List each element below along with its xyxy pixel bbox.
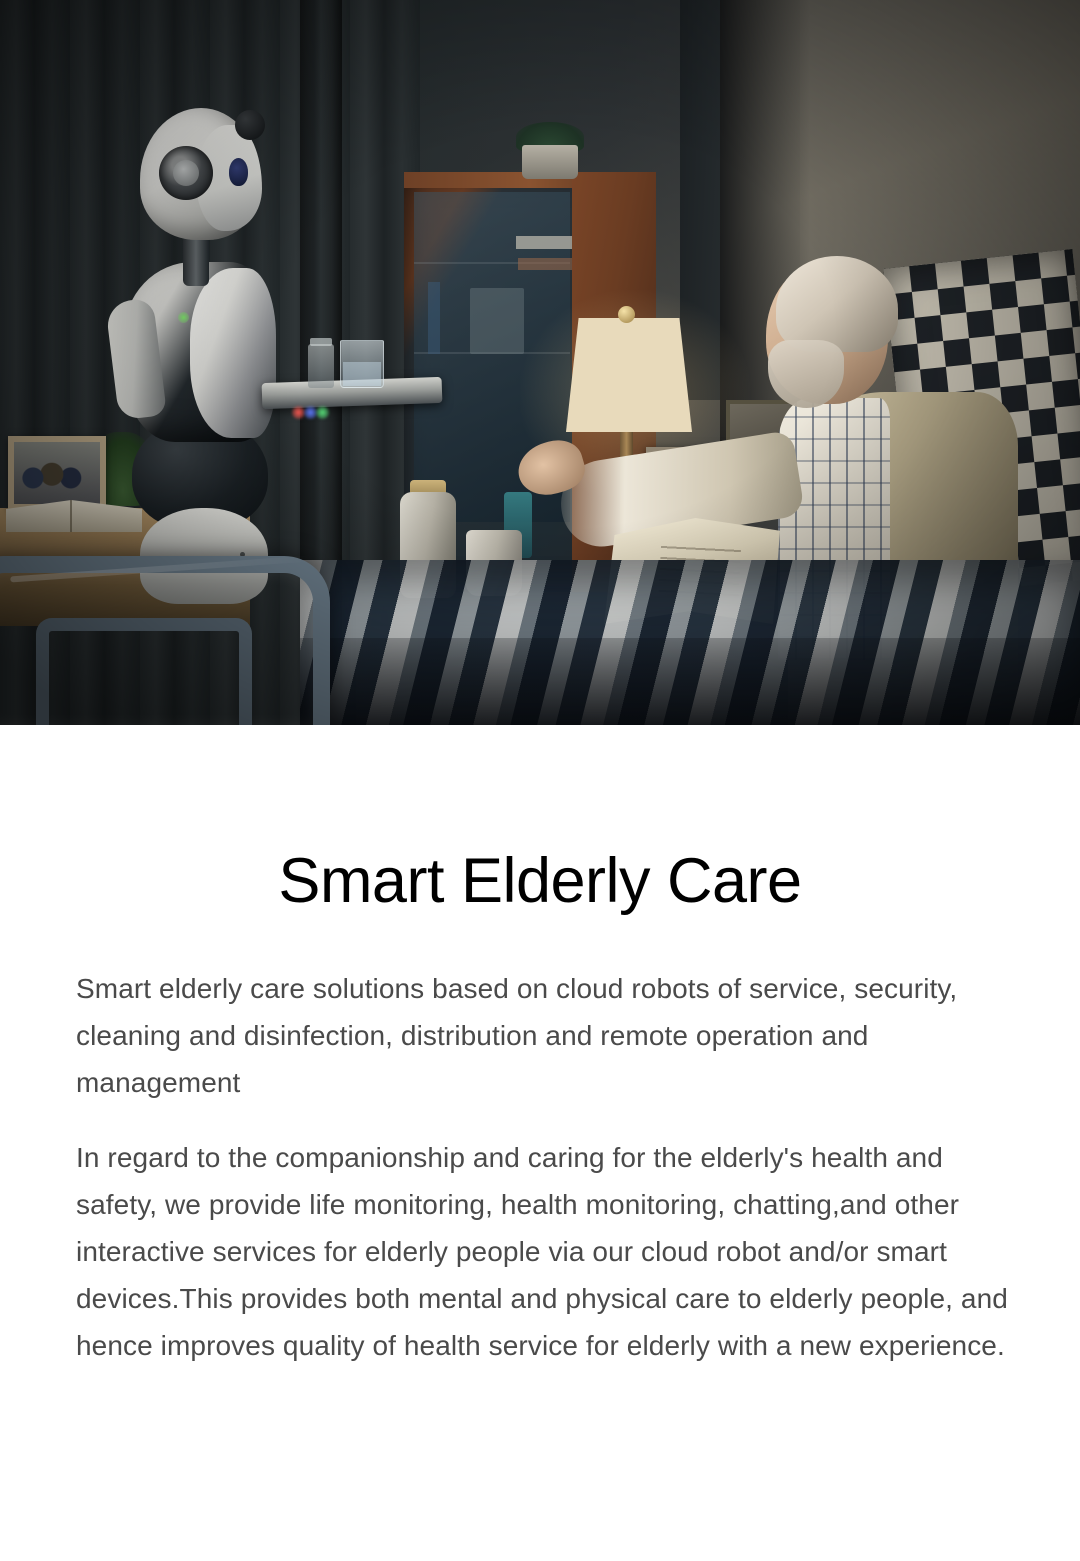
- page-root: Smart Elderly Care Smart elderly care so…: [0, 0, 1080, 1561]
- robot-status-led-green: [316, 406, 329, 419]
- robot-chest-led: [178, 312, 189, 323]
- lamp-finial: [618, 306, 635, 323]
- robot-head-antenna: [235, 110, 265, 140]
- robot-ear-core: [173, 160, 199, 186]
- potted-plant-pot: [522, 145, 578, 179]
- bedding-shadow: [300, 638, 1080, 725]
- hero-image: [0, 0, 1080, 725]
- photo-content: [14, 442, 100, 504]
- paragraph-details: In regard to the companionship and carin…: [76, 1134, 1012, 1369]
- shelf-book: [470, 288, 524, 354]
- open-book-spine: [70, 500, 72, 532]
- shelf-book: [518, 258, 580, 270]
- page-title: Smart Elderly Care: [0, 850, 1080, 913]
- photo-frame-desk: [8, 436, 106, 510]
- man-hair: [776, 256, 898, 352]
- water-bottle: [308, 344, 334, 388]
- bed-rail-inner-bar: [36, 618, 252, 725]
- robot-shoulder: [190, 268, 276, 438]
- paragraph-overview: Smart elderly care solutions based on cl…: [76, 965, 1012, 1106]
- content-section: Smart Elderly Care Smart elderly care so…: [0, 725, 1080, 1561]
- lamp-shade: [566, 318, 692, 432]
- body-copy: Smart elderly care solutions based on cl…: [76, 965, 1012, 1369]
- water-glass-fill: [343, 362, 381, 386]
- robot-eye: [229, 158, 248, 186]
- shelf-book: [428, 282, 440, 354]
